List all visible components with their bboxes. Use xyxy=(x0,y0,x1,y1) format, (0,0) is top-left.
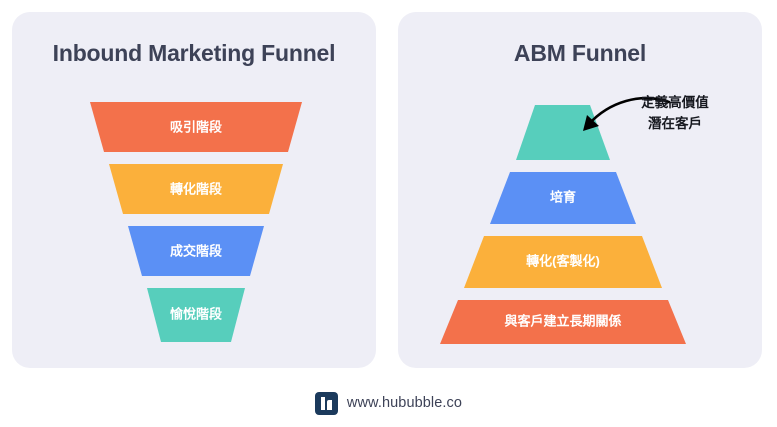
diagram-canvas: Inbound Marketing Funnel 吸引階段 轉化階段 成交階段 … xyxy=(0,0,777,427)
funnel-segment-2-label: 轉化階段 xyxy=(170,181,222,196)
panel-inbound-funnel: Inbound Marketing Funnel 吸引階段 轉化階段 成交階段 … xyxy=(12,12,376,368)
pyramid-tier-3-label: 轉化(客製化) xyxy=(526,253,600,268)
panel-abm-funnel: ABM Funnel 培育 轉化(客製化) 與客戶建立長期關係 xyxy=(398,12,762,368)
logo-mark-stem xyxy=(321,397,325,410)
pyramid-tier-2-label: 培育 xyxy=(550,189,576,204)
inbound-funnel-graphic: 吸引階段 轉化階段 成交階段 愉悅階段 xyxy=(12,12,376,368)
funnel-segment-1: 吸引階段 xyxy=(90,102,302,152)
funnel-segment-3: 成交階段 xyxy=(128,226,264,276)
footer: www.hububble.co xyxy=(0,388,777,418)
pyramid-tier-4-label: 與客戶建立長期關係 xyxy=(504,313,621,328)
funnel-segment-3-label: 成交階段 xyxy=(170,243,222,258)
abm-funnel-graphic: 培育 轉化(客製化) 與客戶建立長期關係 xyxy=(398,12,762,368)
funnel-segment-2: 轉化階段 xyxy=(109,164,283,214)
pyramid-tier-2: 培育 xyxy=(490,172,636,224)
logo-mark-arch xyxy=(327,400,332,410)
funnel-segment-1-label: 吸引階段 xyxy=(170,119,222,134)
funnel-segment-4: 愉悅階段 xyxy=(147,288,245,342)
pyramid-tier-3: 轉化(客製化) xyxy=(464,236,662,288)
annotation-line-2: 潛在客戶 xyxy=(629,113,721,134)
brand-url-label: www.hububble.co xyxy=(347,395,462,411)
hububble-logo-icon xyxy=(315,392,338,415)
pyramid-tier-4: 與客戶建立長期關係 xyxy=(440,300,686,344)
funnel-segment-4-label: 愉悅階段 xyxy=(170,306,222,321)
annotation-high-value-prospects: 定義高價值 潛在客戶 xyxy=(629,92,721,134)
annotation-line-1: 定義高價值 xyxy=(629,92,721,113)
